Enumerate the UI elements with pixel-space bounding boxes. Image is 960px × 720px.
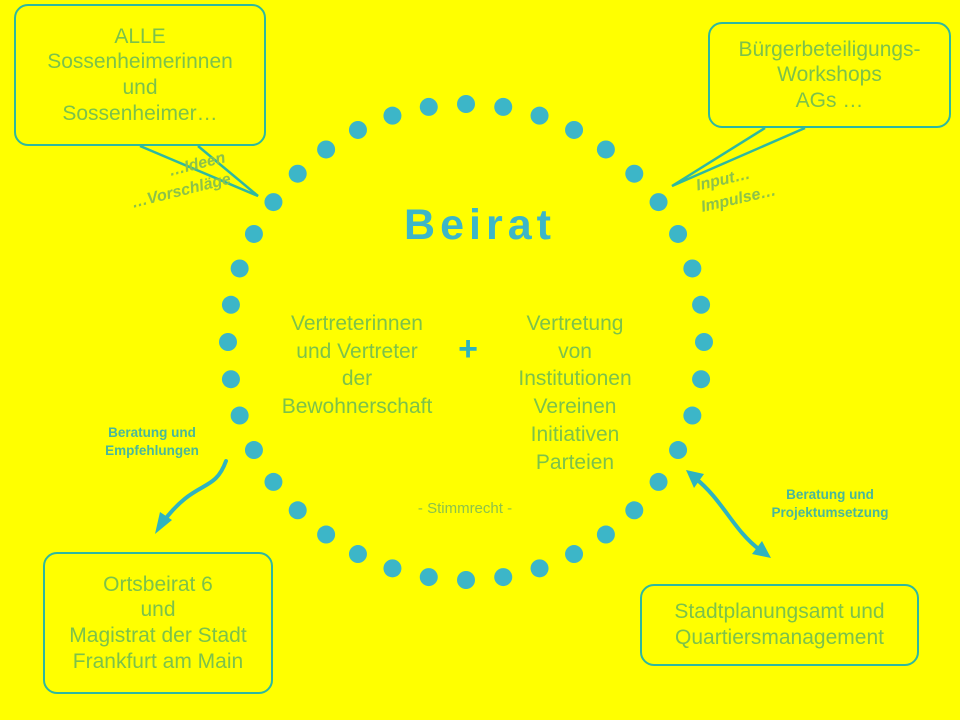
ring-dot (289, 501, 307, 519)
ring-dot (289, 165, 307, 183)
center-column-institutions: VertretungvonInstitutionenVereinenInitia… (480, 310, 670, 476)
ring-dot (457, 571, 475, 589)
ring-dot (494, 568, 512, 586)
ring-dot (669, 441, 687, 459)
box-ortsbeirat-text: Ortsbeirat 6undMagistrat der StadtFrankf… (45, 572, 271, 674)
ring-dot (349, 545, 367, 563)
beratung-empfehlungen-arrowhead (155, 512, 172, 534)
ring-dot (565, 545, 583, 563)
ring-dot (494, 98, 512, 116)
ring-dot (531, 107, 549, 125)
ring-dot (264, 473, 282, 491)
box-ortsbeirat: Ortsbeirat 6undMagistrat der StadtFrankf… (43, 552, 273, 694)
ring-dot (683, 407, 701, 425)
voting-rights-note: - Stimmrecht - (340, 500, 590, 517)
beratung-projekt-arrowhead-upper (686, 470, 704, 488)
speech-bubble-workshops-text: Bürgerbeteiligungs-WorkshopsAGs … (710, 37, 949, 114)
ring-dot (565, 121, 583, 139)
ring-dot (222, 370, 240, 388)
annotation-beratung-empfehlungen: Beratung undEmpfehlungen (70, 424, 234, 460)
ring-dot (349, 121, 367, 139)
ring-dot (317, 140, 335, 158)
ring-dot (420, 98, 438, 116)
diagram-canvas: ALLESossenheimerinnenundSossenheimer… Bü… (0, 0, 960, 720)
ring-dot (625, 165, 643, 183)
annotation-beratung-projektumsetzung: Beratung undProjektumsetzung (738, 486, 922, 522)
ring-dot (219, 333, 237, 351)
ring-dot (383, 107, 401, 125)
ring-dot (222, 296, 240, 314)
ring-dot (692, 296, 710, 314)
ring-dot (317, 526, 335, 544)
ring-dot (692, 370, 710, 388)
ring-dot (420, 568, 438, 586)
ring-dot (597, 526, 615, 544)
ring-dot (245, 441, 263, 459)
ring-dot (531, 559, 549, 577)
ring-dot (457, 95, 475, 113)
ring-dot (683, 259, 701, 277)
ring-dot (231, 259, 249, 277)
ring-dot (231, 407, 249, 425)
box-stadtplanungsamt: Stadtplanungsamt undQuartiersmanagement (640, 584, 919, 666)
center-column-residents: Vertreterinnenund VertreterderBewohnersc… (262, 310, 452, 421)
speech-bubble-citizens-text: ALLESossenheimerinnenundSossenheimer… (16, 24, 264, 126)
speech-bubble-citizens: ALLESossenheimerinnenundSossenheimer… (14, 4, 266, 146)
ring-dot (625, 501, 643, 519)
speech-bubble-workshops: Bürgerbeteiligungs-WorkshopsAGs … (708, 22, 951, 128)
ring-dot (597, 140, 615, 158)
ring-dot (383, 559, 401, 577)
beratung-projekt-arrowhead-lower (752, 541, 771, 558)
ring-dot (695, 333, 713, 351)
box-stadtplanungsamt-text: Stadtplanungsamt undQuartiersmanagement (642, 599, 917, 650)
beratung-empfehlungen-arrow (163, 461, 226, 522)
